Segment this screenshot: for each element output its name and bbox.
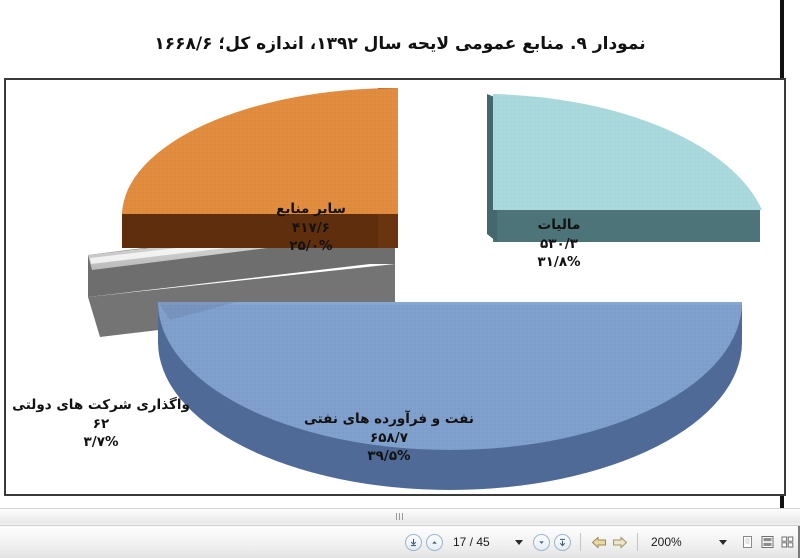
document-page-area[interactable]: نمودار ۹. منابع عمومی لایحه سال ۱۳۹۲، ان… [0,0,800,520]
two-page-view-icon[interactable] [759,535,776,550]
toolbar-controls-group: 17 / 45 200 [405,526,733,558]
pie-slice-top-other [122,88,398,214]
previous-page-icon[interactable] [426,534,443,551]
zoom-out-arrow-glyph [591,536,607,549]
toolbar-view-modes-group [736,526,796,558]
two-page-view-glyph [760,535,775,549]
previous-page-glyph [430,538,439,547]
next-page-icon[interactable] [533,534,550,551]
zoom-out-arrow-icon[interactable] [590,535,607,550]
horizontal-scrollbar-thumb[interactable] [0,509,800,523]
pie-slice-side-other [122,214,398,248]
toolbar-separator-1 [580,533,581,551]
zoom-in-arrow-glyph [612,536,628,549]
horizontal-scrollbar[interactable] [0,508,800,526]
pie-slice-top-taxes [493,94,762,210]
single-page-view-icon[interactable] [739,535,756,550]
pdf-viewer-toolbar[interactable]: 17 / 45 200 [0,525,800,558]
chart-plot-frame: مالیات ۵۳۰/۳ ۳۱/۸% سایر منابع ۴۱۷/۶ ۲۵/۰… [4,78,786,496]
pie-slice-side-taxes [493,207,760,242]
pie-chart-3d [4,78,786,496]
page-dropdown-caret-icon[interactable] [515,540,523,545]
chart-title: نمودار ۹. منابع عمومی لایحه سال ۱۳۹۲، ان… [0,34,800,54]
last-page-glyph [558,538,567,547]
zoom-level-value[interactable]: 200% [651,535,709,549]
toolbar-separator-2 [637,533,638,551]
last-page-icon[interactable] [554,534,571,551]
thumbnail-grid-view-icon[interactable] [779,535,796,550]
first-page-icon[interactable] [405,534,422,551]
next-page-glyph [537,538,546,547]
zoom-dropdown-caret-icon[interactable] [719,540,727,545]
page-indicator[interactable]: 17 / 45 [453,535,499,549]
thumbnail-grid-view-glyph [780,535,795,549]
single-page-view-glyph [740,535,755,549]
first-page-glyph [409,538,418,547]
scrollbar-grip-icon [396,513,405,520]
zoom-in-arrow-icon[interactable] [611,535,628,550]
pie-slice-top-oil-chord [158,302,742,305]
